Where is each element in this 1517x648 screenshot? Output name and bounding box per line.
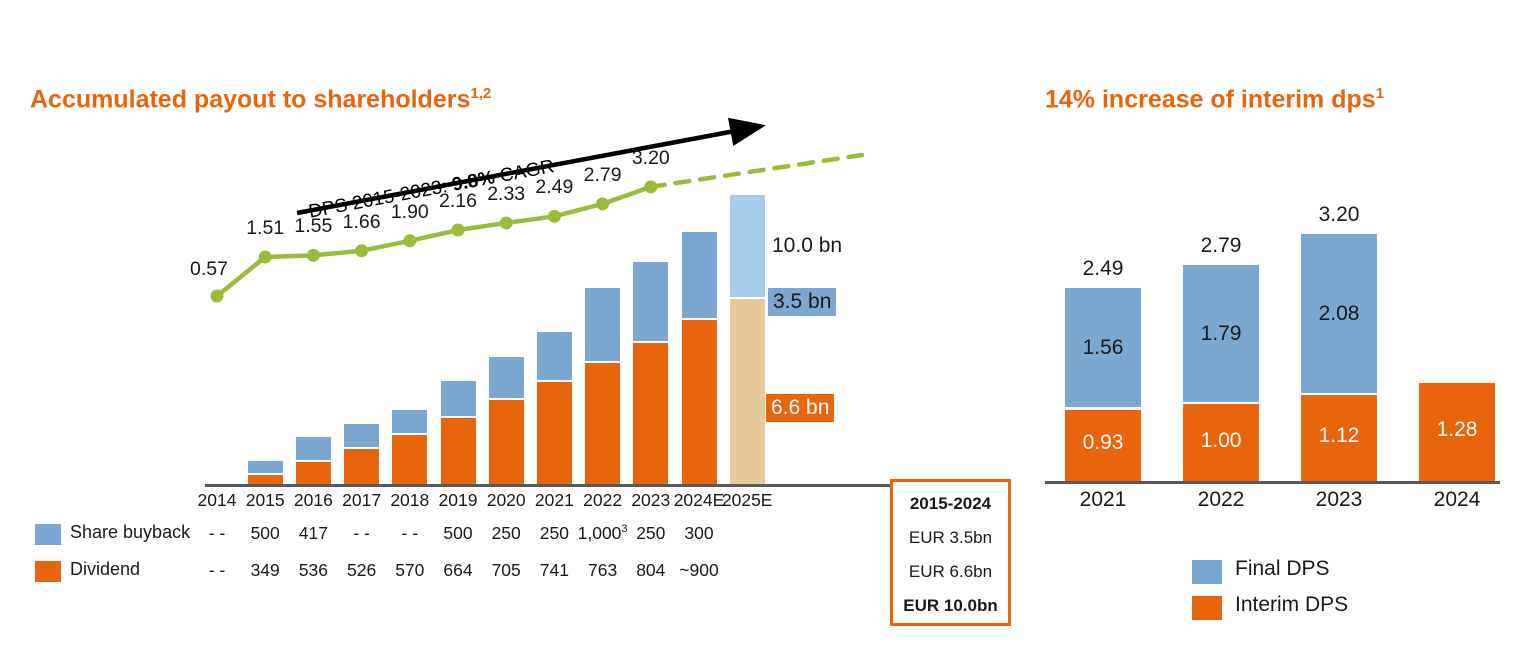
right-panel-title-superscript: 1	[1376, 85, 1384, 102]
dps-marker-2017	[355, 244, 368, 257]
right-legend-label-final-dps: Final DPS	[1235, 557, 1330, 581]
right-label-interim-2021: 0.93	[1053, 431, 1153, 455]
legend-swatch-dividend	[35, 561, 61, 582]
dps-marker-2022	[596, 197, 609, 210]
dps-label-2014: 0.57	[173, 258, 245, 281]
dps-marker-2020	[500, 216, 513, 229]
summary-box: 2015-2024 EUR 3.5bn EUR 6.6bn EUR 10.0bn	[890, 479, 1011, 626]
table-cell-dividend-2024E: ~900	[659, 560, 739, 581]
right-label-final-2021: 1.56	[1053, 336, 1153, 360]
dps-line-series	[0, 0, 1020, 648]
summary-buyback: EUR 3.5bn	[893, 528, 1008, 548]
right-label-final-2023: 2.08	[1289, 302, 1389, 326]
right-legend-swatch-interim-dps	[1192, 596, 1222, 620]
right-label-total-2022: 2.79	[1171, 234, 1271, 258]
callout-dividend: 6.6 bn	[766, 394, 834, 422]
dps-marker-2014	[211, 290, 224, 303]
right-label-interim-2023: 1.12	[1289, 424, 1389, 448]
dps-marker-2019	[452, 224, 465, 237]
right-x-tick-2023: 2023	[1289, 488, 1389, 512]
right-label-interim-2024: 1.28	[1407, 418, 1507, 442]
summary-dividend: EUR 6.6bn	[893, 562, 1008, 582]
right-x-tick-2024: 2024	[1407, 488, 1507, 512]
dps-marker-2016	[307, 249, 320, 262]
legend-label-dividend: Dividend	[70, 559, 140, 580]
accumulated-payout-panel: Accumulated payout to shareholders1,2 DP…	[0, 0, 1020, 648]
summary-heading: 2015-2024	[893, 494, 1008, 514]
right-legend-swatch-final-dps	[1192, 560, 1222, 584]
right-legend-label-interim-dps: Interim DPS	[1235, 593, 1348, 617]
dps-marker-2023	[644, 180, 657, 193]
right-x-tick-2022: 2022	[1171, 488, 1271, 512]
dps-label-2023: 3.20	[615, 147, 687, 170]
summary-total: EUR 10.0bn	[893, 596, 1008, 616]
dps-marker-2018	[403, 234, 416, 247]
table-cell-share-buyback-2024E: 300	[659, 523, 739, 544]
right-x-tick-2021: 2021	[1053, 488, 1153, 512]
right-label-interim-2022: 1.00	[1171, 429, 1271, 453]
right-panel-title: 14% increase of interim dps1	[1045, 85, 1384, 114]
dps-marker-2015	[259, 250, 272, 263]
callout-buyback: 3.5 bn	[768, 288, 836, 316]
callout-total: 10.0 bn	[767, 232, 847, 260]
legend-label-share-buyback: Share buyback	[70, 522, 190, 543]
right-panel-title-text: 14% increase of interim dps	[1045, 85, 1376, 113]
dps-marker-2021	[548, 210, 561, 223]
right-x-axis-line	[1045, 481, 1500, 484]
right-label-total-2023: 3.20	[1289, 203, 1389, 227]
right-label-total-2021: 2.49	[1053, 257, 1153, 281]
interim-dps-panel: 14% increase of interim dps1 0.931.562.4…	[1020, 0, 1517, 648]
legend-swatch-share-buyback	[35, 524, 61, 545]
right-label-final-2022: 1.79	[1171, 322, 1271, 346]
